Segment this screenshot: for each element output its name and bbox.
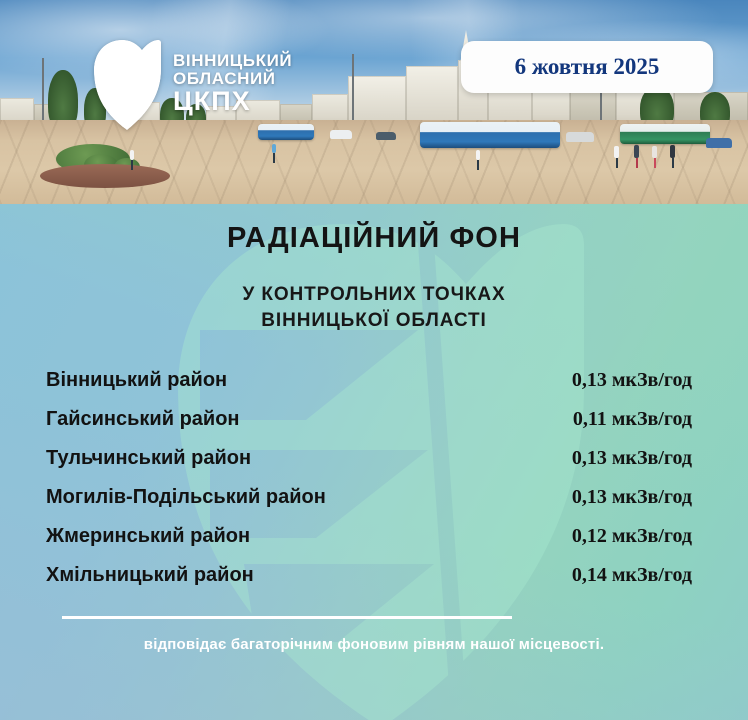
district-value: 0,11 мкЗв/год <box>573 408 692 431</box>
logo-wordmark: ВІННИЦЬКИЙ ОБЛАСНИЙ ЦКПХ <box>173 52 292 115</box>
logo-line-2: ОБЛАСНИЙ <box>173 70 292 87</box>
page-title: РАДІАЦІЙНИЙ ФОН <box>0 222 748 255</box>
page-subtitle: У КОНТРОЛЬНИХ ТОЧКАХ ВІННИЦЬКОЇ ОБЛАСТІ <box>0 282 748 333</box>
district-value: 0,13 мкЗв/год <box>572 447 692 470</box>
logo-line-1: ВІННИЦЬКИЙ <box>173 52 292 69</box>
district-value: 0,14 мкЗв/год <box>572 564 692 587</box>
table-row: Могилів-Подільський район 0,13 мкЗв/год <box>46 486 692 525</box>
district-name: Вінницький район <box>46 369 227 392</box>
table-row: Вінницький район 0,13 мкЗв/год <box>46 369 692 408</box>
district-name: Жмеринський район <box>46 525 250 548</box>
organization-logo: ВІННИЦЬКИЙ ОБЛАСНИЙ ЦКПХ <box>92 38 292 130</box>
footnote-text: відповідає багаторічним фоновим рівням н… <box>0 636 748 653</box>
district-value: 0,13 мкЗв/год <box>572 369 692 392</box>
district-value: 0,13 мкЗв/год <box>572 486 692 509</box>
main-panel: РАДІАЦІЙНИЙ ФОН У КОНТРОЛЬНИХ ТОЧКАХ ВІН… <box>0 204 748 720</box>
district-name: Тульчинський район <box>46 447 251 470</box>
radiation-background-poster: ВІННИЦЬКИЙ ОБЛАСНИЙ ЦКПХ 6 жовтня 2025 <box>0 0 748 720</box>
subtitle-line-2: ВІННИЦЬКОЇ ОБЛАСТІ <box>0 308 748 334</box>
table-row: Хмільницький район 0,14 мкЗв/год <box>46 564 692 603</box>
subtitle-line-1: У КОНТРОЛЬНИХ ТОЧКАХ <box>242 284 505 305</box>
date-badge: 6 жовтня 2025 <box>461 41 713 93</box>
measurements-list: Вінницький район 0,13 мкЗв/год Гайсинськ… <box>46 369 692 603</box>
logo-line-3: ЦКПХ <box>173 88 292 116</box>
table-row: Гайсинський район 0,11 мкЗв/год <box>46 408 692 447</box>
table-row: Жмеринський район 0,12 мкЗв/год <box>46 525 692 564</box>
date-badge-text: 6 жовтня 2025 <box>487 54 687 80</box>
table-row: Тульчинський район 0,13 мкЗв/год <box>46 447 692 486</box>
photo-plaza <box>0 120 748 204</box>
panel-content: РАДІАЦІЙНИЙ ФОН У КОНТРОЛЬНИХ ТОЧКАХ ВІН… <box>0 204 748 720</box>
shield-chevron-logo-icon <box>92 38 162 130</box>
district-name: Хмільницький район <box>46 564 254 587</box>
district-name: Могилів-Подільський район <box>46 486 326 509</box>
district-value: 0,12 мкЗв/год <box>572 525 692 548</box>
divider <box>62 616 512 619</box>
header-photo: ВІННИЦЬКИЙ ОБЛАСНИЙ ЦКПХ 6 жовтня 2025 <box>0 0 748 204</box>
district-name: Гайсинський район <box>46 408 240 431</box>
